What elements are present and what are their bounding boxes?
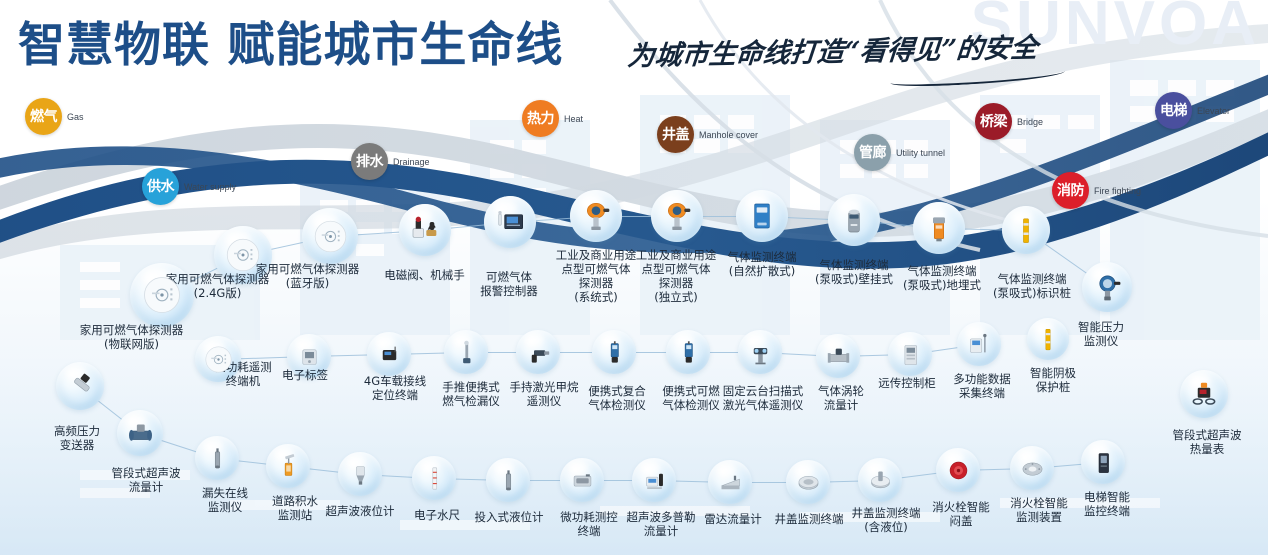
product-micro-power-measurement-control-terminal-bubble[interactable] <box>560 458 604 502</box>
product-gas-monitor-pump-marker-bubble[interactable] <box>1002 206 1050 254</box>
device-illustration <box>347 461 374 488</box>
product-handheld-laser-methane-telemeter-bubble[interactable] <box>516 330 560 374</box>
device-illustration <box>126 419 155 448</box>
product-push-portable-gas-leak-detector-bubble[interactable] <box>444 330 488 374</box>
category-bridge[interactable]: 桥梁Bridge <box>975 103 1043 140</box>
category-manhole-cover-en-label: Manhole cover <box>699 130 758 140</box>
product-gas-monitor-pump-marker-label: 气体监测终端 (泵吸式)标识桩 <box>962 272 1102 300</box>
device-illustration <box>453 339 480 366</box>
product-portable-combustible-gas-detector-bubble[interactable] <box>666 330 710 374</box>
product-high-frequency-pressure-transmitter-label: 高频压力 变送器 <box>22 424 132 452</box>
device-illustration <box>275 453 302 480</box>
product-leak-online-monitor-bubble[interactable] <box>195 436 239 480</box>
product-gas-turbine-flowmeter-bubble[interactable] <box>816 334 860 378</box>
product-pipe-ultrasonic-flowmeter-bubble[interactable] <box>117 410 163 456</box>
device-illustration <box>838 204 870 236</box>
category-drainage[interactable]: 排水Drainage <box>351 143 430 180</box>
device-illustration <box>65 371 95 401</box>
product-gas-monitor-diffusion-bubble[interactable] <box>736 190 788 242</box>
device-illustration <box>1035 326 1061 352</box>
device-illustration <box>1011 215 1041 245</box>
device-illustration <box>494 206 526 238</box>
category-fire-fighting-disc: 消防 <box>1052 172 1089 209</box>
product-multifunction-data-acquisition-terminal-bubble[interactable] <box>957 322 1001 366</box>
device-illustration <box>296 343 323 370</box>
category-utility-tunnel-en-label: Utility tunnel <box>896 148 945 158</box>
device-illustration <box>142 275 182 315</box>
category-drainage-disc: 排水 <box>351 143 388 180</box>
category-utility-tunnel[interactable]: 管廊Utility tunnel <box>854 134 945 171</box>
category-manhole-cover-disc: 井盖 <box>657 116 694 153</box>
device-illustration <box>641 467 668 494</box>
category-elevator-en-label: Elevator <box>1197 106 1230 116</box>
category-elevator[interactable]: 电梯Elevator <box>1155 92 1230 129</box>
device-illustration <box>825 343 852 370</box>
device-illustration <box>923 212 955 244</box>
device-illustration <box>675 339 702 366</box>
product-radar-flowmeter-bubble[interactable] <box>708 460 752 504</box>
category-bridge-disc: 桥梁 <box>975 103 1012 140</box>
category-fire-fighting[interactable]: 消防Fire fighting <box>1052 172 1141 209</box>
category-water-supply[interactable]: 供水Water supply <box>142 168 236 205</box>
device-illustration <box>409 214 441 246</box>
product-remote-control-cabinet-bubble[interactable] <box>888 332 932 376</box>
device-illustration <box>717 469 744 496</box>
category-heat-en-label: Heat <box>564 114 583 124</box>
product-road-waterlogging-monitor-station-bubble[interactable] <box>266 444 310 488</box>
page-title: 智慧物联 赋能城市生命线 <box>18 21 563 71</box>
product-hydrant-smart-blind-cover-bubble[interactable] <box>936 448 980 492</box>
category-water-supply-en-label: Water supply <box>184 182 236 192</box>
product-elevator-smart-monitoring-terminal-bubble[interactable] <box>1081 440 1125 484</box>
product-pipe-ultrasonic-heat-meter-label: 管段式超声波 热量表 <box>1148 428 1266 456</box>
device-illustration <box>525 339 552 366</box>
product-high-frequency-pressure-transmitter-bubble[interactable] <box>56 362 104 410</box>
product-ultrasonic-doppler-flowmeter-bubble[interactable] <box>632 458 676 502</box>
product-gas-monitor-pump-wall-bubble[interactable] <box>828 194 880 246</box>
category-gas-disc: 燃气 <box>25 98 62 135</box>
product-industrial-point-gas-detector-standalone-bubble[interactable] <box>651 190 703 242</box>
device-illustration <box>945 457 972 484</box>
product-4g-vehicle-positioning-terminal-bubble[interactable] <box>367 332 411 376</box>
product-manhole-cover-monitor-terminal-bubble[interactable] <box>786 460 830 504</box>
category-heat-disc: 热力 <box>522 100 559 137</box>
page-subtitle: 为城市生命线打造“看得见”的安全 <box>626 34 1038 73</box>
category-bridge-en-label: Bridge <box>1017 117 1043 127</box>
poster-canvas: SUNVOA 智慧物联 赋能城市生命线 为城市生命线打造“看得见”的安全 燃气G… <box>0 0 1268 555</box>
device-illustration <box>204 445 231 472</box>
product-solenoid-valve-manipulator-bubble[interactable] <box>399 204 451 256</box>
product-portable-composite-gas-detector-bubble[interactable] <box>592 330 636 374</box>
device-illustration <box>747 339 774 366</box>
device-illustration <box>1090 449 1117 476</box>
device-illustration <box>1092 272 1123 303</box>
device-illustration <box>313 219 348 254</box>
device-illustration <box>601 339 628 366</box>
product-submersible-level-meter-bubble[interactable] <box>486 458 530 502</box>
device-illustration <box>795 469 822 496</box>
product-home-gas-detector-bt-bubble[interactable] <box>302 208 358 264</box>
product-gas-alarm-controller-bubble[interactable] <box>484 196 536 248</box>
device-illustration <box>1019 455 1046 482</box>
device-illustration <box>225 237 261 273</box>
device-illustration <box>376 341 403 368</box>
device-illustration <box>746 200 778 232</box>
device-illustration <box>580 200 612 232</box>
device-illustration <box>204 345 233 374</box>
product-electronic-water-ruler-bubble[interactable] <box>412 456 456 500</box>
subtitle-underline <box>890 65 1065 88</box>
category-elevator-disc: 电梯 <box>1155 92 1192 129</box>
product-ultrasonic-level-meter-bubble[interactable] <box>338 452 382 496</box>
category-gas[interactable]: 燃气Gas <box>25 98 84 135</box>
device-illustration <box>495 467 522 494</box>
device-illustration <box>1189 379 1219 409</box>
device-illustration <box>867 467 894 494</box>
product-fixed-ptz-scanning-laser-gas-telemeter-bubble[interactable] <box>738 330 782 374</box>
product-smart-pressure-monitor-bubble[interactable] <box>1082 262 1132 312</box>
device-illustration <box>421 465 448 492</box>
product-hydrant-smart-monitoring-device-bubble[interactable] <box>1010 446 1054 490</box>
product-industrial-point-gas-detector-system-bubble[interactable] <box>570 190 622 242</box>
device-illustration <box>966 331 993 358</box>
category-water-supply-disc: 供水 <box>142 168 179 205</box>
category-gas-en-label: Gas <box>67 112 84 122</box>
product-manhole-cover-monitor-terminal-level-bubble[interactable] <box>858 458 902 502</box>
device-illustration <box>569 467 596 494</box>
category-heat[interactable]: 热力Heat <box>522 100 583 137</box>
product-elevator-smart-monitoring-terminal-label: 电梯智能 监控终端 <box>1052 490 1162 518</box>
product-smart-cathodic-protection-post-bubble[interactable] <box>1027 318 1069 360</box>
product-smart-cathodic-protection-post-label: 智能阴极 保护桩 <box>998 366 1108 394</box>
category-fire-fighting-en-label: Fire fighting <box>1094 186 1141 196</box>
device-illustration <box>661 200 693 232</box>
category-manhole-cover[interactable]: 井盖Manhole cover <box>657 116 758 153</box>
product-gas-monitor-pump-buried-bubble[interactable] <box>913 202 965 254</box>
device-illustration <box>897 341 924 368</box>
category-utility-tunnel-disc: 管廊 <box>854 134 891 171</box>
category-drainage-en-label: Drainage <box>393 157 430 167</box>
product-pipe-ultrasonic-heat-meter-bubble[interactable] <box>1180 370 1228 418</box>
